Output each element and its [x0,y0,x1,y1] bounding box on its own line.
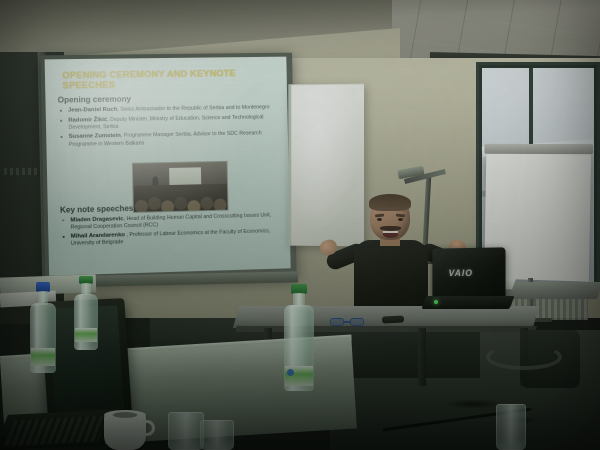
slide-embedded-photo [132,161,229,213]
speaker-name: Susanne Zumstein [69,133,121,140]
speaker-name: Mihail Arandarenko [71,232,125,240]
bottle-label [75,328,97,342]
bottle-label-dot [287,369,294,376]
slide-section-heading-opening: Opening ceremony [58,93,279,105]
list-item: Susanne Zumstein, Programme Manager Serb… [57,130,279,148]
eyeglasses [330,318,370,327]
list-item: Radomir Žikić, Deputy Minister, Ministry… [57,114,279,132]
laptop-vaio[interactable]: VAIO [424,248,510,314]
table-leg [418,328,426,386]
presenter-hair [369,194,411,211]
power-led-icon [434,300,438,304]
drinking-glass [200,420,234,450]
drinking-glass [496,404,526,450]
drinking-glass [168,412,204,450]
table-back-edge [235,326,537,332]
chair-base [486,344,562,370]
conference-room-screenshot: OPENING CEREMONY AND KEYNOTE SPEECHES Op… [0,0,600,450]
presentation-remote [382,315,404,323]
laptop-foreground-keys[interactable] [4,416,108,447]
coffee-cup-rim [104,410,146,420]
photo-audience [133,184,227,212]
speaker-description: , Swiss Ambassador to the Republic of Se… [117,105,269,113]
presenter-eye-left [377,218,382,221]
presenter-eye-right [398,218,403,221]
speaker-name: Jean-Daniel Ruch [68,107,117,114]
speaker-name: Radomir Žikić [68,117,107,124]
presenter-mouth [383,231,398,238]
speaker-name: Mladen Dragasevic [70,216,123,223]
vaio-logo: VAIO [449,268,473,278]
eyeglasses-lens-left [330,318,344,326]
presenter-torso [354,240,428,314]
flipchart-clip [484,144,593,154]
keynote-speeches-list: Mladen Dragasevic, Head of Building Huma… [59,212,281,248]
presentation-slide: OPENING CEREMONY AND KEYNOTE SPEECHES Op… [45,57,291,276]
eyeglasses-lens-right [350,318,364,326]
list-item: Mihail Arandarenko , Professor of Labour… [60,228,282,248]
opening-ceremony-list: Jean-Daniel Ruch, Swiss Ambassador to th… [57,105,279,149]
slide-title: OPENING CEREMONY AND KEYNOTE SPEECHES [62,68,278,91]
bottle-label [31,348,55,366]
